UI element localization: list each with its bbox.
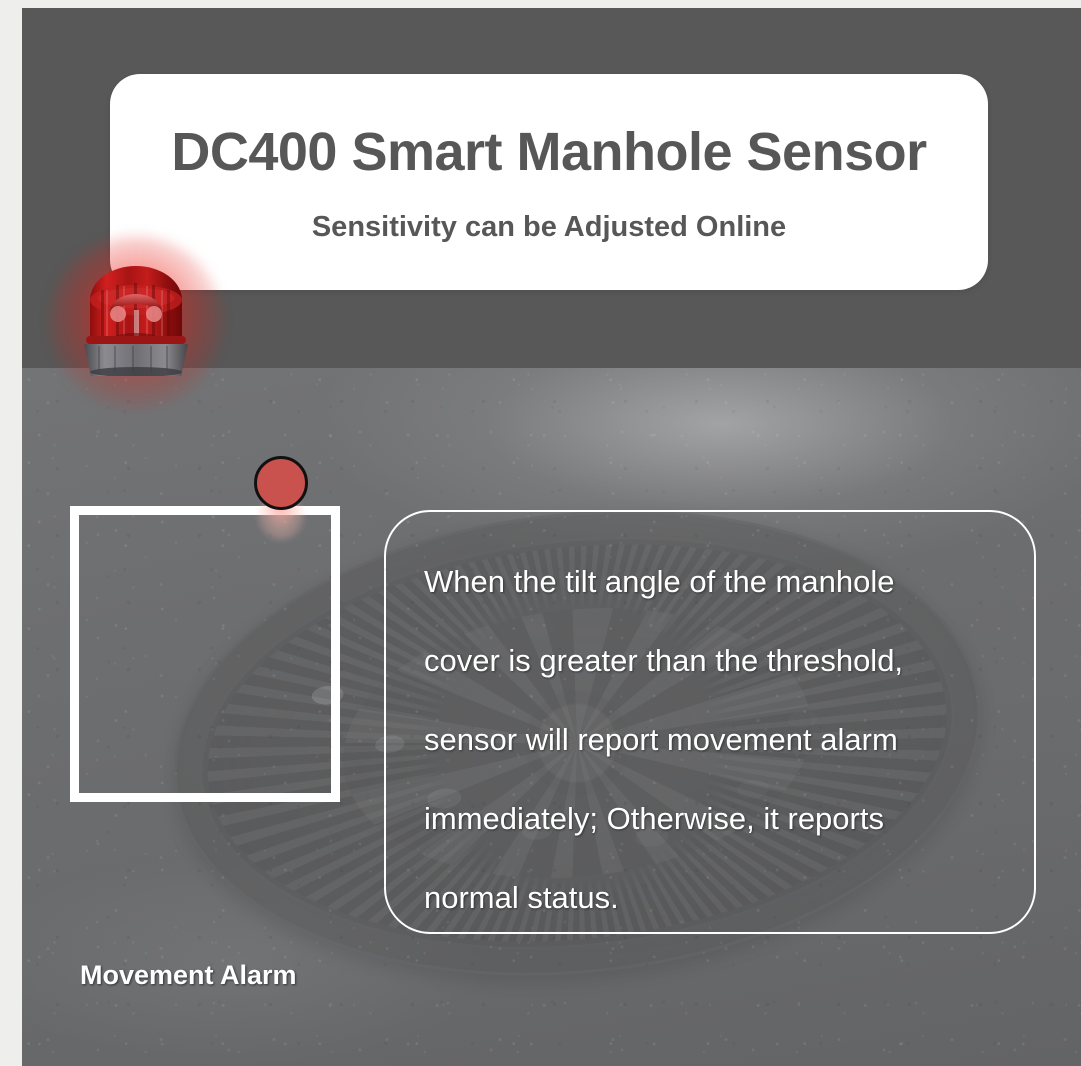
- description-line: When the tilt angle of the manhole: [424, 542, 1006, 621]
- page-subtitle: Sensitivity can be Adjusted Online: [312, 211, 786, 244]
- poster-inner: Movement Alarm When the tilt angle of th…: [22, 8, 1081, 1066]
- description-panel: When the tilt angle of the manhole cover…: [384, 510, 1036, 934]
- description-line: immediately; Otherwise, it reports: [424, 779, 1006, 858]
- poster-canvas: Movement Alarm When the tilt angle of th…: [0, 0, 1081, 1066]
- description-line: cover is greater than the threshold,: [424, 621, 1006, 700]
- alarm-beacon-icon: [80, 260, 192, 376]
- movement-alarm-caption: Movement Alarm: [80, 960, 297, 991]
- red-status-dot-icon: [254, 456, 308, 510]
- movement-alarm-frame: [70, 506, 340, 802]
- road-photo-background: Movement Alarm When the tilt angle of th…: [22, 368, 1081, 1066]
- alarm-beacon: [50, 236, 222, 408]
- description-line: sensor will report movement alarm: [424, 700, 1006, 779]
- description-line: normal status.: [424, 858, 1006, 937]
- title-card: DC400 Smart Manhole Sensor Sensitivity c…: [110, 74, 988, 290]
- page-title: DC400 Smart Manhole Sensor: [171, 124, 926, 181]
